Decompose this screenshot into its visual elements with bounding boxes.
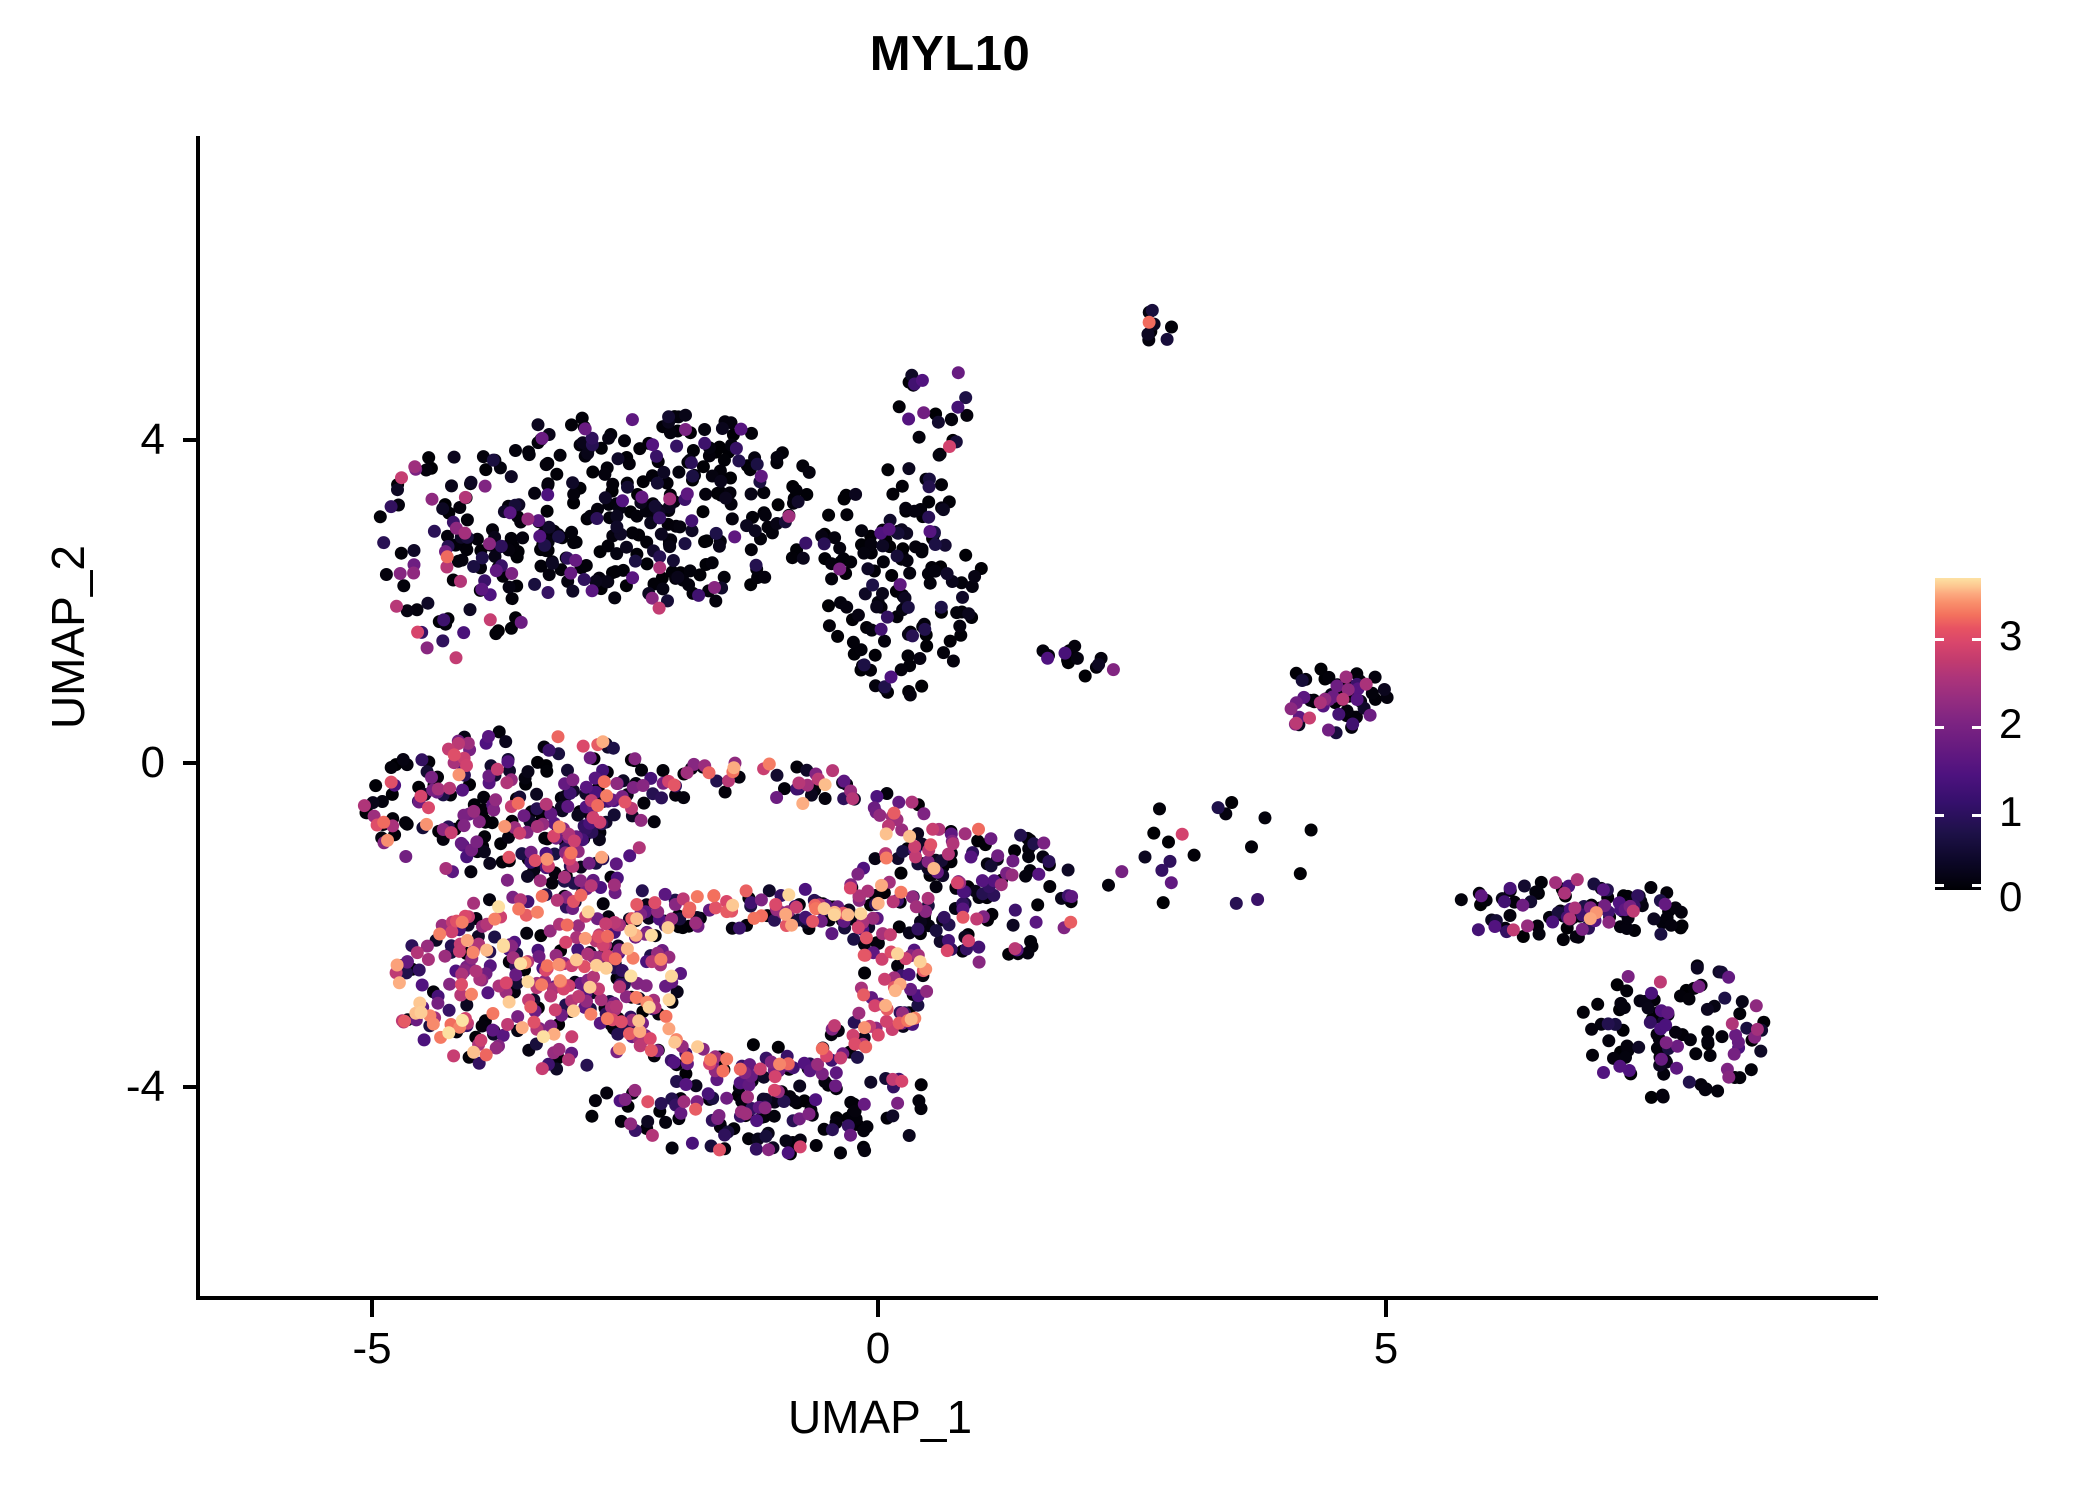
scatter-point [455,978,468,991]
scatter-point [655,791,668,804]
scatter-point [702,1087,715,1100]
scatter-point [1024,935,1037,948]
scatter-point [876,587,889,600]
scatter-point [883,523,896,536]
scatter-point [1031,898,1044,911]
scatter-point [726,512,739,525]
scatter-point [748,912,761,925]
scatter-point [663,492,676,505]
scatter-point [750,559,763,572]
scatter-point [852,1007,865,1020]
scatter-point [902,413,915,426]
x-tick-mark-0 [876,1300,880,1317]
scatter-point [893,400,906,413]
scatter-point [951,401,964,414]
scatter-point [1618,1001,1631,1014]
scatter-point [599,917,612,930]
scatter-point [523,448,536,461]
scatter-point [533,530,546,543]
scatter-point [621,942,634,955]
scatter-point [536,1062,549,1075]
scatter-point [662,921,675,934]
scatter-point [854,907,867,920]
scatter-point [1722,1071,1735,1084]
scatter-point [448,748,461,761]
scatter-point [552,730,565,743]
scatter-point [1062,864,1075,877]
scatter-point [524,1000,537,1013]
scatter-point [1584,912,1597,925]
scatter-point [534,874,547,887]
scatter-point [1683,1076,1696,1089]
scatter-point [579,932,592,945]
scatter-point [881,463,894,476]
scatter-point [679,409,692,422]
scatter-point [597,897,610,910]
scatter-point [679,537,692,550]
scatter-point [886,1109,899,1122]
scatter-point [896,845,909,858]
scatter-point [377,816,390,829]
scatter-point [915,1078,928,1091]
scatter-point [481,986,494,999]
scatter-point [858,1098,871,1111]
scatter-point [759,509,772,522]
scatter-point [888,807,901,820]
scatter-point [497,938,510,951]
scatter-point [1620,984,1633,997]
scatter-point [691,890,704,903]
scatter-point [1576,923,1589,936]
scatter-point [640,979,653,992]
scatter-point [917,807,930,820]
scatter-point [411,946,424,959]
scatter-point [698,423,711,436]
scatter-point [653,602,666,615]
scatter-point [531,906,544,919]
scatter-point [1736,995,1749,1008]
scatter-point [727,761,740,774]
scatter-point [624,924,637,937]
scatter-point [529,854,542,867]
scatter-point [418,1033,431,1046]
scatter-point [1750,999,1763,1012]
scatter-point [532,418,545,431]
scatter-point [408,544,421,557]
scatter-point [369,779,382,792]
scatter-point [506,592,519,605]
scatter-point [567,1004,580,1017]
scatter-point [628,1084,641,1097]
scatter-point [769,1070,782,1083]
scatter-point [381,834,394,847]
scatter-point [1558,887,1571,900]
scatter-point [565,847,578,860]
scatter-point [1153,802,1166,815]
scatter-point [582,905,595,918]
scatter-point [861,885,874,898]
scatter-point [601,930,614,943]
scatter-point [380,568,393,581]
scatter-point [822,509,835,522]
scatter-point [1225,796,1238,809]
scatter-point [771,769,784,782]
scatter-point [698,437,711,450]
scatter-point [1498,895,1511,908]
scatter-point [459,491,472,504]
scatter-point [618,434,631,447]
scatter-point [1162,836,1175,849]
scatter-point [461,513,474,526]
scatter-point [726,899,739,912]
scatter-point [829,1079,842,1092]
scatter-point [516,531,529,544]
scatter-point [528,1016,541,1029]
scatter-point [825,927,838,940]
scatter-point [443,1004,456,1017]
scatter-point [872,1029,885,1042]
scatter-point [476,551,489,564]
scatter-point [613,980,626,993]
scatter-point [565,1030,578,1043]
scatter-point [747,1038,760,1051]
scatter-point [1504,882,1517,895]
scatter-point [810,1139,823,1152]
scatter-point [635,814,648,827]
scatter-point [1722,971,1735,984]
scatter-point [579,422,592,435]
scatter-point [458,819,471,832]
colorbar-legend[interactable]: 3 2 1 0 [1935,560,2095,920]
scatter-point [906,796,919,809]
scatter-point [828,908,841,921]
scatter-point [1296,674,1309,687]
scatter-point [641,557,654,570]
scatter-point [1006,869,1019,882]
scatter-point [453,768,466,781]
scatter-point [637,797,650,810]
scatter-point [938,911,951,924]
scatter-point [819,792,832,805]
scatter-point [1647,912,1660,925]
scatter-point [782,888,795,901]
scatter-point [902,462,915,475]
scatter-point [831,630,844,643]
colorbar-tick-0-left [1935,884,1944,887]
scatter-point [483,537,496,550]
colorbar-tick-0-right [1972,884,1981,887]
scatter-point [1699,1083,1712,1096]
scatter-point [663,993,676,1006]
scatter-point [916,374,929,387]
scatter-point [876,539,889,552]
scatter-point [1518,880,1531,893]
scatter-point [1212,801,1225,814]
scatter-point [956,591,969,604]
scatter-point [1549,876,1562,889]
scatter-point [905,1013,918,1026]
scatter-point [598,468,611,481]
scatter-point [467,805,480,818]
scatter-point [480,944,493,957]
scatter-point [562,1053,575,1066]
scatter-point [397,753,410,766]
scatter-point [866,579,879,592]
scatter-point [598,775,611,788]
scatter-point [1340,671,1353,684]
scatter-point [720,1092,733,1105]
scatter-point [645,929,658,942]
scatter-point [653,511,666,524]
scatter-point [732,454,745,467]
scatter-point [584,751,597,764]
scatter-point [1621,1040,1634,1053]
scatter-point [809,1093,822,1106]
scatter-point [1305,824,1318,837]
scatter-point [447,1049,460,1062]
scatter-point [480,1048,493,1061]
scatter-point [655,1097,668,1110]
scatter-point [895,1075,908,1088]
scatter-point [1147,827,1160,840]
y-axis-spine [196,136,200,1300]
scatter-point [422,801,435,814]
scatter-point [935,478,948,491]
scatter-point [583,857,596,870]
scatter-point [591,799,604,812]
scatter-point [929,565,942,578]
scatter-point [943,440,956,453]
x-tick-label-neg5: -5 [312,1324,432,1374]
scatter-point [498,820,511,833]
scatter-point [399,850,412,863]
scatter-point [1507,923,1520,936]
scatter-point [648,896,661,909]
scatter-point [858,967,871,980]
scatter-point [1042,855,1055,868]
scatter-point [558,871,571,884]
scatter-point [718,1129,731,1142]
scatter-point [541,853,554,866]
scatter-point [514,957,527,970]
scatter-point [681,487,694,500]
scatter-point [1689,1047,1702,1060]
scatter-point [580,1059,593,1072]
scatter-point [521,870,534,883]
scatter-point [546,557,559,570]
scatter-point [385,776,398,789]
scatter-point [439,950,452,963]
scatter-point [624,970,637,983]
scatter-point [793,1080,806,1093]
scatter-point [673,520,686,533]
scatter-point [922,892,935,905]
scatter-point [1009,942,1022,955]
scatter-point [1146,304,1159,317]
scatter-point [706,556,719,569]
scatter-point [751,458,764,471]
scatter-point [531,820,544,833]
scatter-point [600,789,613,802]
scatter-point [663,540,676,553]
scatter-point [782,510,795,523]
scatter-point [1037,837,1050,850]
scatter-point [672,466,685,479]
scatter-point [566,476,579,489]
scatter-point [1155,864,1168,877]
scatter-point [486,1007,499,1020]
scatter-point [415,1006,428,1019]
scatter-point [475,583,488,596]
scatter-point [780,1134,793,1147]
scatter-point [457,626,470,639]
scatter-point [413,964,426,977]
scatter-point [635,491,648,504]
scatter-point [540,458,553,471]
scatter-point [1613,1060,1626,1073]
scatter-point [799,883,812,896]
scatter-point [385,761,398,774]
scatter-point [489,793,502,806]
scatter-point [681,1051,694,1064]
scatter-point [543,744,556,757]
scatter-point [826,764,839,777]
scatter-point [792,777,805,790]
scatter-point [937,646,950,659]
scatter-point [585,1110,598,1123]
scatter-point [461,934,474,947]
scatter-point [612,452,625,465]
scatter-point [1521,919,1534,932]
scatter-point [465,988,478,1001]
scatter-point [870,790,883,803]
scatter-point [1602,1017,1615,1030]
scatter-point [1701,1035,1714,1048]
scatter-point [914,955,927,968]
scatter-point [1285,702,1298,715]
scatter-point [686,470,699,483]
scatter-point [456,554,469,567]
scatter-point [619,1093,632,1106]
scatter-point [945,413,958,426]
scatter-point [599,491,612,504]
scatter-point [1165,876,1178,889]
scatter-point [895,886,908,899]
scatter-point [624,1117,637,1130]
scatter-point [536,890,549,903]
colorbar-tick-3-left [1935,638,1944,641]
scatter-point [973,956,986,969]
scatter-point [655,528,668,541]
scatter-point [611,1028,624,1041]
scatter-point [670,440,683,453]
scatter-point [431,997,444,1010]
scatter-point [503,996,516,1009]
scatter-point [1597,883,1610,896]
scatter-point [976,874,989,887]
scatter-point [880,1015,893,1028]
scatter-point [880,852,893,865]
scatter-point [385,500,398,513]
scatter-point [771,451,784,464]
scatter-point [443,978,456,991]
scatter-point [929,538,942,551]
scatter-point [436,634,449,647]
scatter-point [720,1053,733,1066]
scatter-point [1107,663,1120,676]
scatter-point [1303,712,1316,725]
scatter-point [1546,916,1559,929]
scatter-point [716,422,729,435]
scatter-point [877,555,890,568]
scatter-point [421,641,434,654]
scatter-point [662,410,675,423]
scatter-point [681,766,694,779]
scatter-point [437,613,450,626]
scatter-point [782,1146,795,1159]
scatter-point [648,815,661,828]
scatter-point [1659,1019,1672,1032]
scatter-point [822,599,835,612]
scatter-point [1665,919,1678,932]
scatter-point [561,800,574,813]
y-tick-mark-4 [183,438,200,442]
scatter-point [432,783,445,796]
scatter-point [920,985,933,998]
scatter-point [499,735,512,748]
scatter-point [456,1014,469,1027]
scatter-point [395,471,408,484]
scatter-point [595,851,608,864]
scatter-point [909,540,922,553]
scatter-point [933,449,946,462]
scatter-point [608,879,621,892]
scatter-point [541,488,554,501]
scatter-point [755,470,768,483]
scatter-point [794,1140,807,1153]
scatter-point [885,671,898,684]
scatter-point [719,492,732,505]
scatter-point [564,567,577,580]
scatter-point [870,600,883,613]
plot-panel[interactable] [198,138,1876,1298]
scatter-point [426,493,439,506]
scatter-point [1591,998,1604,1011]
scatter-point [1683,993,1696,1006]
scatter-point [1102,879,1115,892]
scatter-point [416,979,429,992]
scatter-point [516,1021,529,1034]
scatter-point [1009,904,1022,917]
scatter-point [852,609,865,622]
scatter-point [578,573,591,586]
colorbar-tick-1-right [1972,814,1981,817]
scatter-point [470,965,483,978]
scatter-point [903,968,916,981]
scatter-point [1711,1085,1724,1098]
scatter-point [708,581,721,594]
scatter-point [884,928,897,941]
scatter-point [610,777,623,790]
scatter-point [512,797,525,810]
scatter-point [739,1107,752,1120]
scatter-point [1571,873,1584,886]
scatter-point [881,611,894,624]
scatter-point [1716,1030,1729,1043]
scatter-point [852,921,865,934]
scatter-point [535,978,548,991]
scatter-point [857,988,870,1001]
